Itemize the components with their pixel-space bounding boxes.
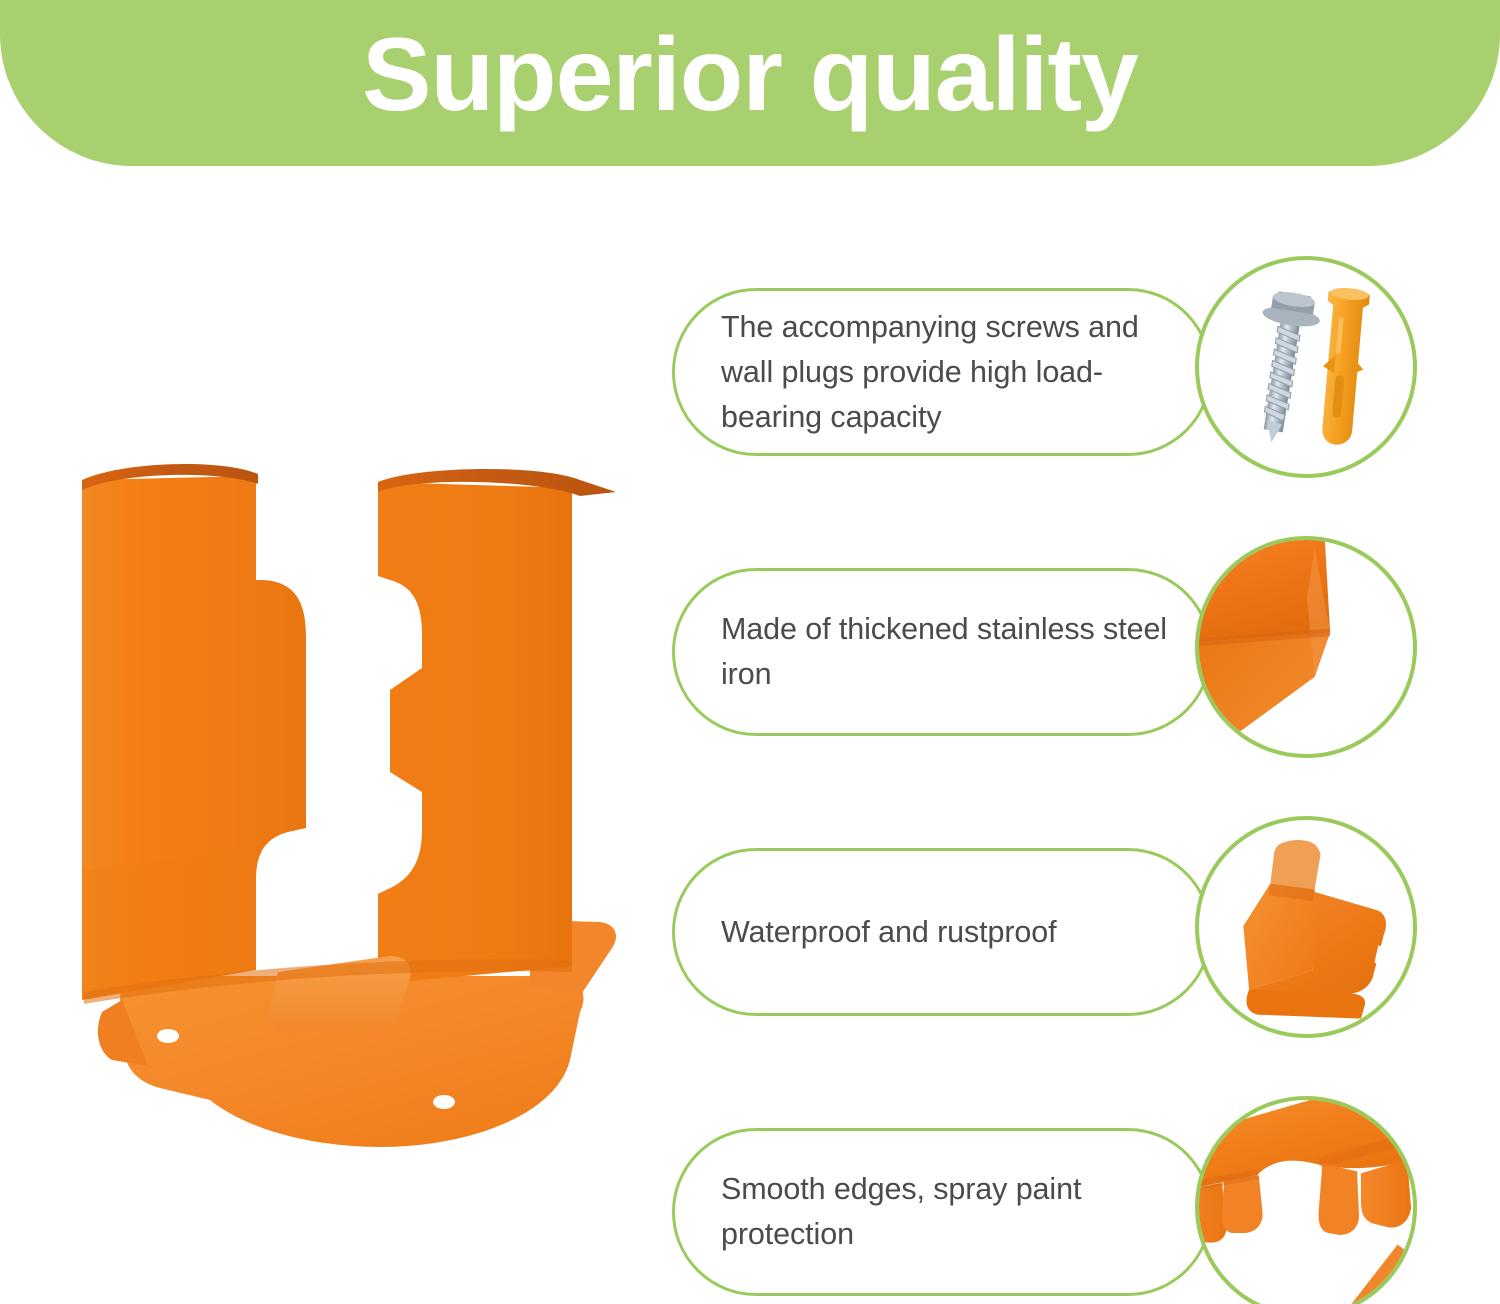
feature-text-box: The accompanying screws and wall plugs p…: [672, 288, 1212, 456]
feature-label: Made of thickened stainless steel iron: [675, 607, 1209, 697]
feature-text-box: Smooth edges, spray paint protection: [672, 1128, 1212, 1296]
feature-label: The accompanying screws and wall plugs p…: [675, 305, 1209, 440]
feature-label: Smooth edges, spray paint protection: [675, 1167, 1209, 1257]
feature-text-box: Made of thickened stainless steel iron: [672, 568, 1212, 736]
bracket-folded-edge-icon: [1195, 536, 1417, 758]
feature-item-waterproof-rustproof: Waterproof and rustproof: [660, 808, 1460, 1048]
feature-item-screws-and-plugs: The accompanying screws and wall plugs p…: [660, 248, 1460, 488]
feature-text-box: Waterproof and rustproof: [672, 848, 1212, 1016]
bracket-angled-profile-icon: [1195, 816, 1417, 1038]
bracket-notch-edges-icon: [1195, 1096, 1417, 1304]
product-image: [60, 400, 660, 1160]
screw-and-wall-plug-icon: [1195, 256, 1417, 478]
page-title: Superior quality: [0, 0, 1500, 166]
feature-list: The accompanying screws and wall plugs p…: [660, 240, 1460, 1300]
feature-label: Waterproof and rustproof: [675, 910, 1083, 955]
header-banner: Superior quality: [0, 0, 1500, 166]
infographic-page: Superior quality: [0, 0, 1500, 1304]
feature-item-smooth-edges: Smooth edges, spray paint protection: [660, 1088, 1460, 1304]
feature-item-thickened-steel: Made of thickened stainless steel iron: [660, 528, 1460, 768]
